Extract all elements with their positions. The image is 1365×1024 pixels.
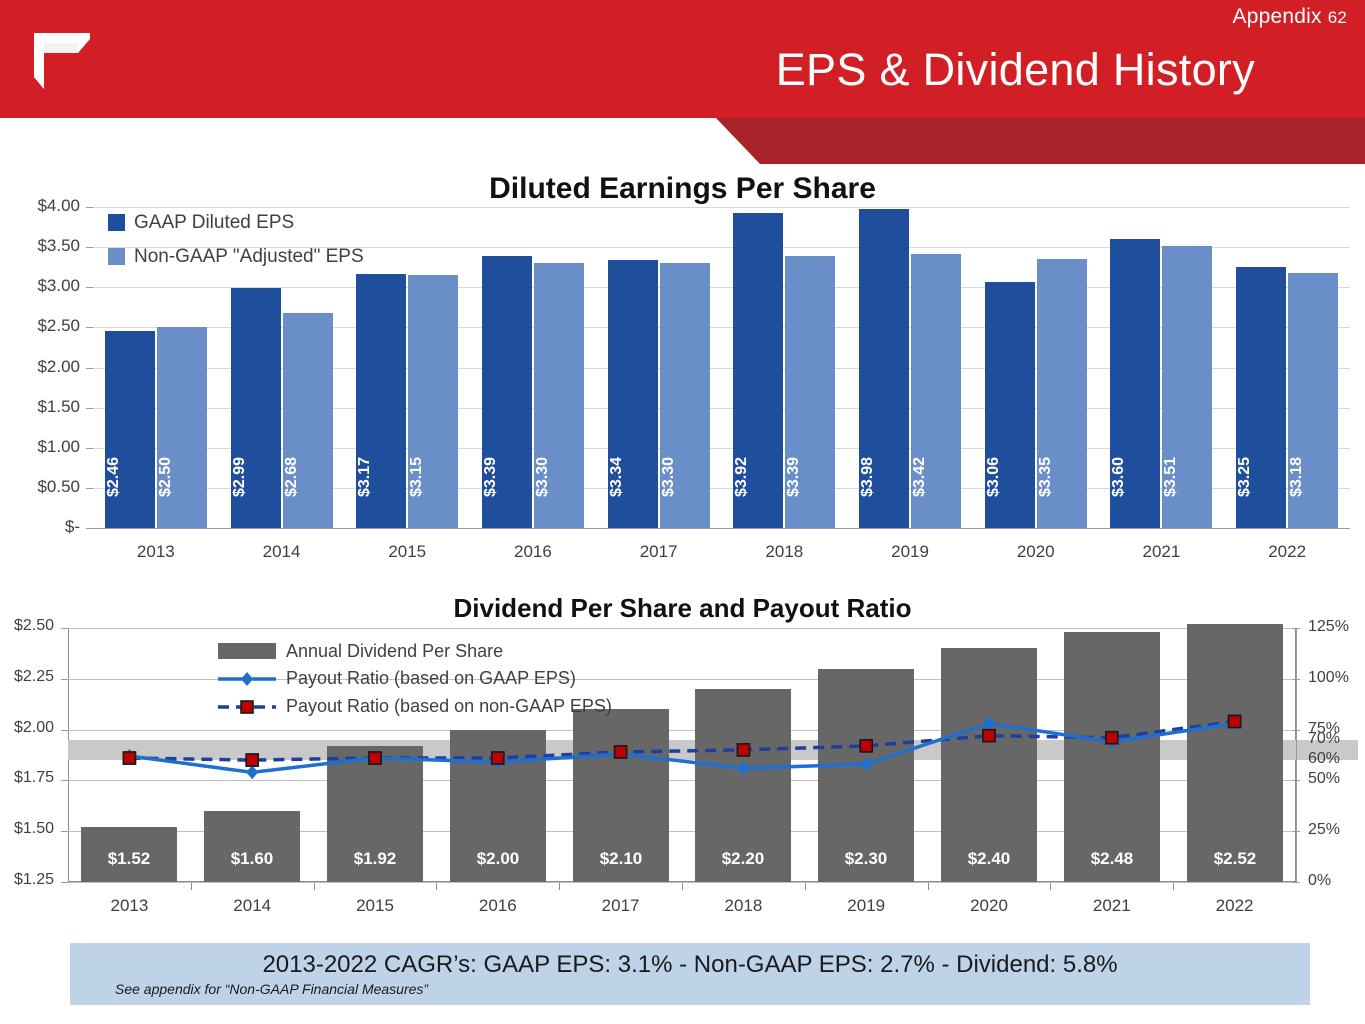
cagr-summary-text: 2013-2022 CAGR’s: GAAP EPS: 3.1% - Non-G… (70, 951, 1310, 979)
chart2-cat-separator (1173, 883, 1174, 890)
chart1-category-label: 2020 (973, 542, 1099, 562)
chart1-bar-value: $3.18 (1288, 432, 1338, 522)
chart1-category-label: 2019 (847, 542, 973, 562)
chart1-ytick-label: $2.50 (0, 316, 80, 336)
chart2-bar-value: $2.52 (1187, 849, 1283, 869)
chart2-cat-separator (436, 883, 437, 890)
chart1-category-label: 2014 (219, 542, 345, 562)
chart1-ytick-label: $1.50 (0, 397, 80, 417)
chart1-bar-value: $3.51 (1162, 432, 1212, 522)
chart2-y2tick-label: 70% (1308, 730, 1340, 748)
chart1-ytick-label: $0.50 (0, 477, 80, 497)
chart1-ytick (86, 327, 93, 328)
slide-header-band: Appendix62 EPS & Dividend History (0, 0, 1365, 118)
chart1-bar-value: $3.34 (608, 432, 658, 522)
chart1-gridline (93, 207, 1350, 208)
chart2-cat-separator (1050, 883, 1051, 890)
chart2-legend-sample (218, 697, 276, 717)
chart1-ytick-label: $4.00 (0, 196, 80, 216)
chart1-title: Diluted Earnings Per Share (0, 172, 1365, 206)
chart1-ytick (86, 408, 93, 409)
chart2-category-label: 2019 (805, 896, 928, 916)
chart2-y2tick-label: 125% (1308, 618, 1349, 636)
chart2-bar-value: $2.30 (818, 849, 914, 869)
chart1-x-axis (93, 528, 1350, 529)
chart1-bar-value: $3.92 (733, 432, 783, 522)
chart2-ytick (61, 730, 68, 731)
chart1-category-label: 2017 (596, 542, 722, 562)
diluted-eps-chart: Diluted Earnings Per Share $4.00$3.50$3.… (0, 164, 1365, 570)
chart2-legend-label-line: Payout Ratio (based on non-GAAP EPS) (286, 696, 612, 717)
chart1-category-label: 2021 (1099, 542, 1225, 562)
chart2-gridline (68, 628, 1296, 629)
page-number: 62 (1328, 8, 1347, 27)
chart1-ytick-label: $3.50 (0, 236, 80, 256)
chart2-cat-separator (314, 883, 315, 890)
chart2-y2tick-label: 50% (1308, 770, 1340, 788)
chart1-bar-value: $3.30 (660, 432, 710, 522)
chart2-bar-value: $2.40 (941, 849, 1037, 869)
dividend-payout-chart: Dividend Per Share and Payout Ratio $2.5… (0, 585, 1365, 930)
chart2-y2tick (1293, 780, 1300, 781)
chart2-y2tick-label: 100% (1308, 669, 1349, 687)
chart2-ytick (61, 679, 68, 680)
chart2-y2tick (1293, 679, 1300, 680)
chart2-cat-separator (928, 883, 929, 890)
chart2-category-label: 2016 (436, 896, 559, 916)
non-gaap-note: See appendix for “Non-GAAP Financial Mea… (115, 981, 428, 997)
chart1-category-label: 2015 (344, 542, 470, 562)
chart1-ytick (86, 207, 93, 208)
chart2-legend-sample (218, 669, 276, 689)
chart2-bar-value: $2.20 (695, 849, 791, 869)
chart2-bar (1187, 624, 1283, 882)
chart2-bar (1064, 632, 1160, 882)
chart2-y2tick (1293, 882, 1300, 883)
chart1-legend-swatch (108, 214, 125, 231)
chart1-bar-value: $3.06 (985, 432, 1035, 522)
chart2-ytick-label: $1.50 (0, 820, 54, 838)
chart1-bar-value: $2.46 (105, 432, 155, 522)
chart2-legend-label-bar: Annual Dividend Per Share (286, 641, 503, 662)
header-wedge (0, 118, 760, 164)
chart1-ytick (86, 448, 93, 449)
chart1-bar-value: $2.68 (283, 432, 333, 522)
appendix-label: Appendix (1233, 5, 1322, 28)
chart2-category-label: 2020 (928, 896, 1051, 916)
chart2-y2tick-label: 25% (1308, 821, 1340, 839)
chart2-cat-separator (191, 883, 192, 890)
chart2-y2tick (1293, 831, 1300, 832)
chart1-ytick-label: $1.00 (0, 437, 80, 457)
chart2-ytick-label: $2.25 (0, 668, 54, 686)
chart2-ytick (61, 882, 68, 883)
chart2-category-label: 2021 (1050, 896, 1173, 916)
chart2-bar (204, 811, 300, 882)
chart2-right-axis (1296, 628, 1297, 882)
chart1-category-label: 2018 (722, 542, 848, 562)
page-title: EPS & Dividend History (776, 44, 1255, 96)
cagr-summary-box: 2013-2022 CAGR’s: GAAP EPS: 3.1% - Non-G… (70, 943, 1310, 1005)
chart2-cat-separator (559, 883, 560, 890)
chart2-category-label: 2018 (682, 896, 805, 916)
chart1-ytick (86, 287, 93, 288)
chart1-ytick (86, 247, 93, 248)
chart2-ytick (61, 628, 68, 629)
chart2-bar-value: $1.60 (204, 849, 300, 869)
chart1-bar-value: $3.15 (408, 432, 458, 522)
chart2-y2tick (1293, 628, 1300, 629)
chart1-bar-value: $3.30 (534, 432, 584, 522)
chart1-bar-value: $2.99 (231, 432, 281, 522)
chart2-bar-value: $2.00 (450, 849, 546, 869)
chart2-bar-value: $2.48 (1064, 849, 1160, 869)
chart1-bar-value: $2.50 (157, 432, 207, 522)
chart1-legend-label: GAAP Diluted EPS (134, 212, 294, 234)
chart1-legend-label: Non-GAAP "Adjusted" EPS (134, 246, 364, 268)
chart1-category-label: 2022 (1224, 542, 1350, 562)
chart2-cat-separator (805, 883, 806, 890)
chart1-bar-value: $3.39 (482, 432, 532, 522)
chart2-ytick (61, 831, 68, 832)
chart2-bar-value: $1.92 (327, 849, 423, 869)
chart2-y2tick (1293, 730, 1300, 731)
chart2-category-label: 2015 (314, 896, 437, 916)
chart2-y2tick-label: 60% (1308, 750, 1340, 768)
chart2-legend-label-line: Payout Ratio (based on GAAP EPS) (286, 668, 576, 689)
chart1-ytick-label: $2.00 (0, 357, 80, 377)
chart1-ytick (86, 488, 93, 489)
chart1-legend-swatch (108, 248, 125, 265)
chart1-bar-value: $3.17 (356, 432, 406, 522)
chart2-category-label: 2014 (191, 896, 314, 916)
chart1-bar-value: $3.60 (1110, 432, 1160, 522)
chart1-category-label: 2016 (470, 542, 596, 562)
chart2-y2tick-label: 0% (1308, 872, 1331, 890)
chart2-category-label: 2022 (1173, 896, 1296, 916)
chart1-bar-value: $3.35 (1037, 432, 1087, 522)
chart2-category-label: 2013 (68, 896, 191, 916)
chart2-title: Dividend Per Share and Payout Ratio (0, 593, 1365, 624)
flag-logo (30, 27, 94, 94)
appendix-indicator: Appendix62 (1233, 5, 1347, 29)
chart1-bar-value: $3.39 (785, 432, 835, 522)
chart1-ytick (86, 528, 93, 529)
chart2-bar-value: $2.10 (573, 849, 669, 869)
chart1-bar-value: $3.42 (911, 432, 961, 522)
chart2-ytick-label: $2.50 (0, 617, 54, 635)
chart2-ytick (61, 780, 68, 781)
chart2-bar (941, 648, 1037, 882)
chart2-bar-value: $1.52 (81, 849, 177, 869)
chart2-legend-swatch-bar (218, 643, 276, 659)
chart1-ytick-label: $- (0, 517, 80, 537)
chart2-cat-separator (682, 883, 683, 890)
chart1-bar-value: $3.98 (859, 432, 909, 522)
chart1-ytick (86, 368, 93, 369)
chart2-ytick-label: $2.00 (0, 719, 54, 737)
chart1-ytick-label: $3.00 (0, 276, 80, 296)
chart1-bar-value: $3.25 (1236, 432, 1286, 522)
chart1-category-label: 2013 (93, 542, 219, 562)
chart2-ytick-label: $1.75 (0, 769, 54, 787)
chart2-category-label: 2017 (559, 896, 682, 916)
chart2-ytick-label: $1.25 (0, 871, 54, 889)
